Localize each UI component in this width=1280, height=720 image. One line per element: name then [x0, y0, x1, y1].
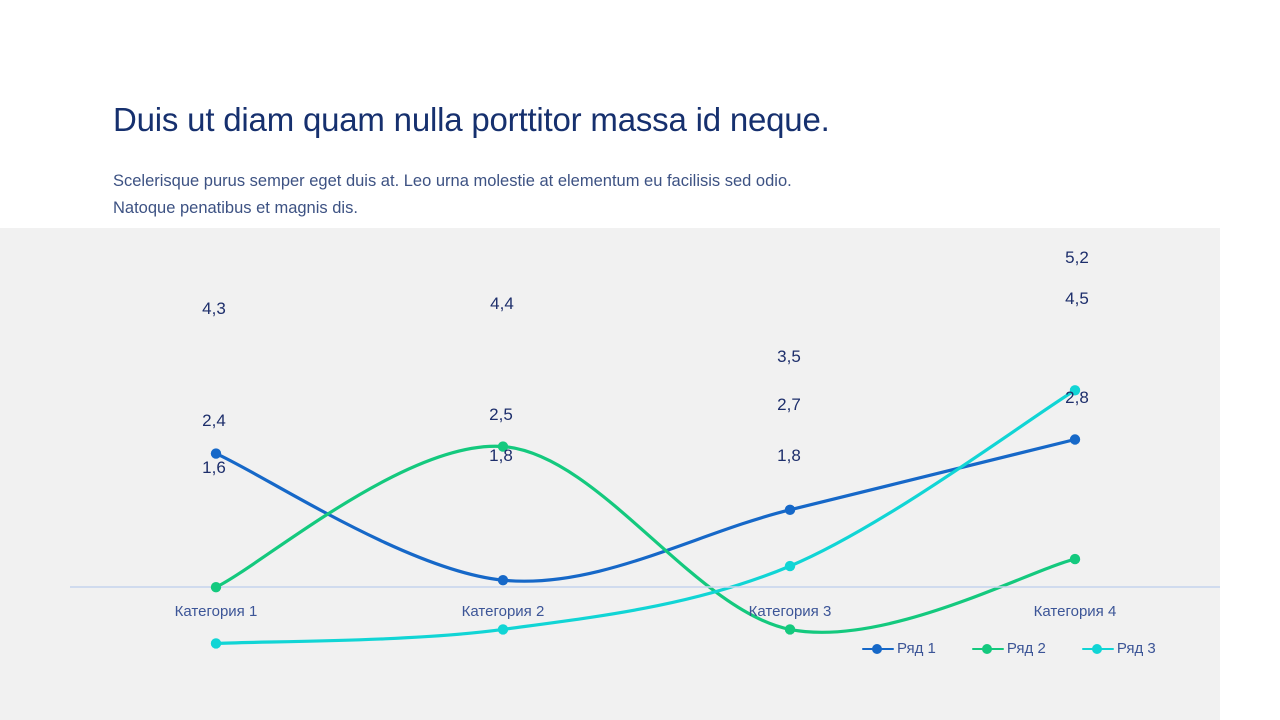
legend-item-3[interactable]: Ряд 3 [1082, 641, 1156, 656]
legend-label: Ряд 2 [1007, 641, 1046, 656]
data-point[interactable] [785, 505, 795, 515]
data-point[interactable] [1070, 554, 1080, 564]
chart-panel: 4,32,53,54,52,44,41,82,81,61,82,75,2 Кат… [0, 228, 1220, 720]
data-point-label: 4,5 [1065, 290, 1089, 307]
slide-header: Duis ut diam quam nulla porttitor massa … [0, 0, 1280, 228]
series-paths [216, 390, 1075, 643]
category-label-2: Категория 2 [462, 604, 545, 619]
category-label-3: Категория 3 [749, 604, 832, 619]
data-point[interactable] [498, 575, 508, 585]
data-point[interactable] [785, 561, 795, 571]
legend-marker-icon [1082, 643, 1114, 655]
data-point-label: 2,4 [202, 412, 226, 429]
data-point-label: 2,7 [777, 396, 801, 413]
data-point[interactable] [498, 624, 508, 634]
data-point[interactable] [211, 638, 221, 648]
category-label-4: Категория 4 [1034, 604, 1117, 619]
page-title: Duis ut diam quam nulla porttitor massa … [113, 98, 830, 142]
data-point-label: 2,5 [489, 406, 513, 423]
data-point-label: 1,6 [202, 459, 226, 476]
data-point[interactable] [1070, 434, 1080, 444]
chart-legend: Ряд 1Ряд 2Ряд 3 [862, 641, 1156, 656]
data-point-label: 5,2 [1065, 249, 1089, 266]
legend-marker-icon [972, 643, 1004, 655]
legend-marker-icon [862, 643, 894, 655]
data-point-label: 4,4 [490, 295, 514, 312]
data-point[interactable] [211, 582, 221, 592]
series-line-2 [216, 446, 1075, 632]
legend-item-1[interactable]: Ряд 1 [862, 641, 936, 656]
subtitle-line-1: Scelerisque purus semper eget duis at. L… [113, 168, 1013, 195]
subtitle-line-2: Natoque penatibus et magnis dis. [113, 195, 1013, 222]
slide-root: Duis ut diam quam nulla porttitor massa … [0, 0, 1280, 720]
legend-item-2[interactable]: Ряд 2 [972, 641, 1046, 656]
slide-subtitle: Scelerisque purus semper eget duis at. L… [113, 168, 1013, 222]
data-point-label: 2,8 [1065, 389, 1089, 406]
data-point-label: 3,5 [777, 348, 801, 365]
data-point-label: 1,8 [777, 447, 801, 464]
category-label-1: Категория 1 [175, 604, 258, 619]
data-point-label: 1,8 [489, 447, 513, 464]
legend-label: Ряд 1 [897, 641, 936, 656]
legend-label: Ряд 3 [1117, 641, 1156, 656]
series-line-1 [216, 440, 1075, 582]
data-point[interactable] [785, 624, 795, 634]
data-point-label: 4,3 [202, 300, 226, 317]
